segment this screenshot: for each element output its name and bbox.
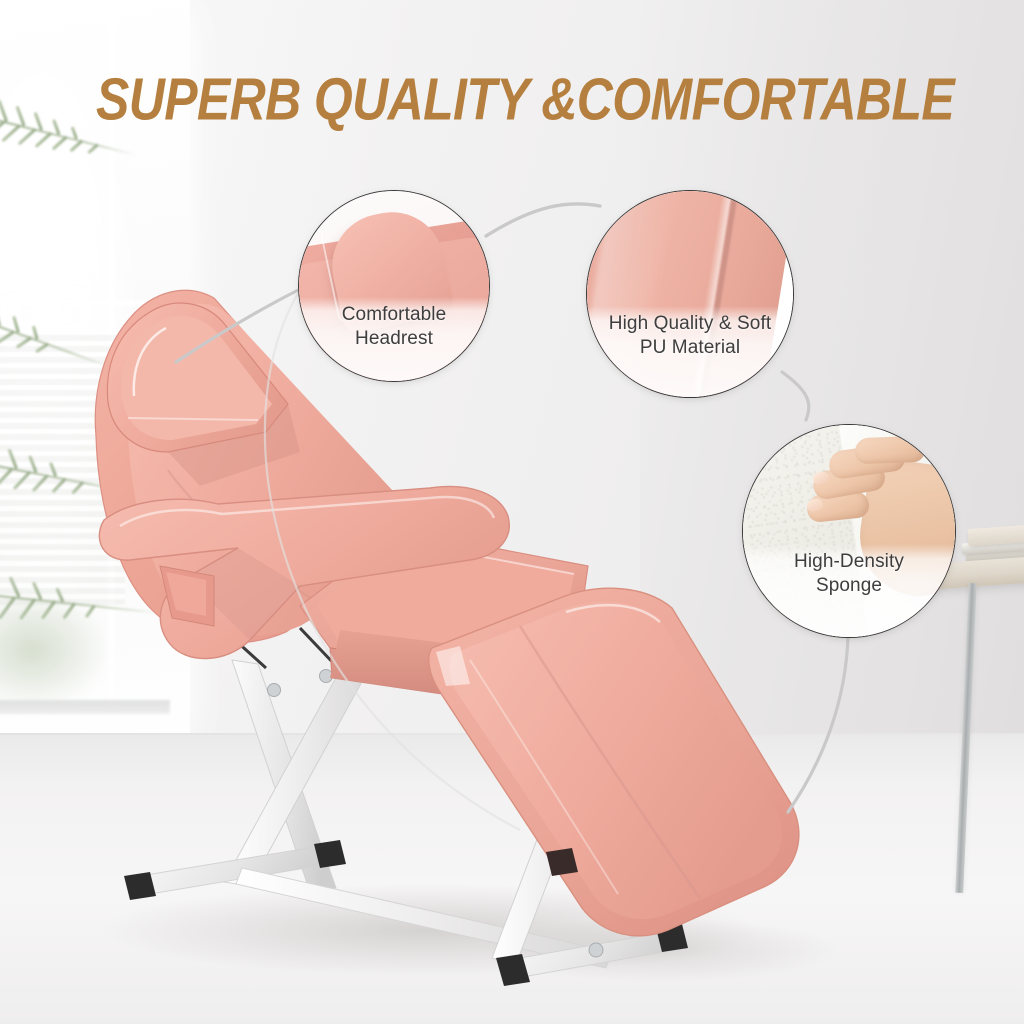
hand-finger bbox=[855, 436, 926, 464]
callout-pu-label: High Quality & Soft PU Material bbox=[587, 306, 793, 397]
callout-sponge-line2: Sponge bbox=[816, 574, 882, 598]
callout-pu-line2: PU Material bbox=[640, 336, 740, 360]
page-title: SUPERB QUALITY &COMFORTABLE bbox=[96, 62, 994, 138]
callout-headrest-line2: Headrest bbox=[355, 327, 433, 351]
callout-sponge-line1: High-Density bbox=[794, 550, 904, 574]
callout-headrest-label: Comfortable Headrest bbox=[299, 297, 489, 381]
product-feature-banner: SUPERB QUALITY &COMFORTABLE Comfortable … bbox=[0, 0, 1024, 1024]
callout-sponge-label: High-Density Sponge bbox=[743, 544, 955, 637]
callout-comfortable-headrest: Comfortable Headrest bbox=[298, 190, 490, 382]
callout-pu-line1: High Quality & Soft bbox=[609, 312, 771, 336]
callout-pu-material: High Quality & Soft PU Material bbox=[586, 190, 794, 398]
callout-headrest-line1: Comfortable bbox=[342, 303, 447, 327]
callout-high-density-sponge: High-Density Sponge bbox=[742, 424, 956, 638]
